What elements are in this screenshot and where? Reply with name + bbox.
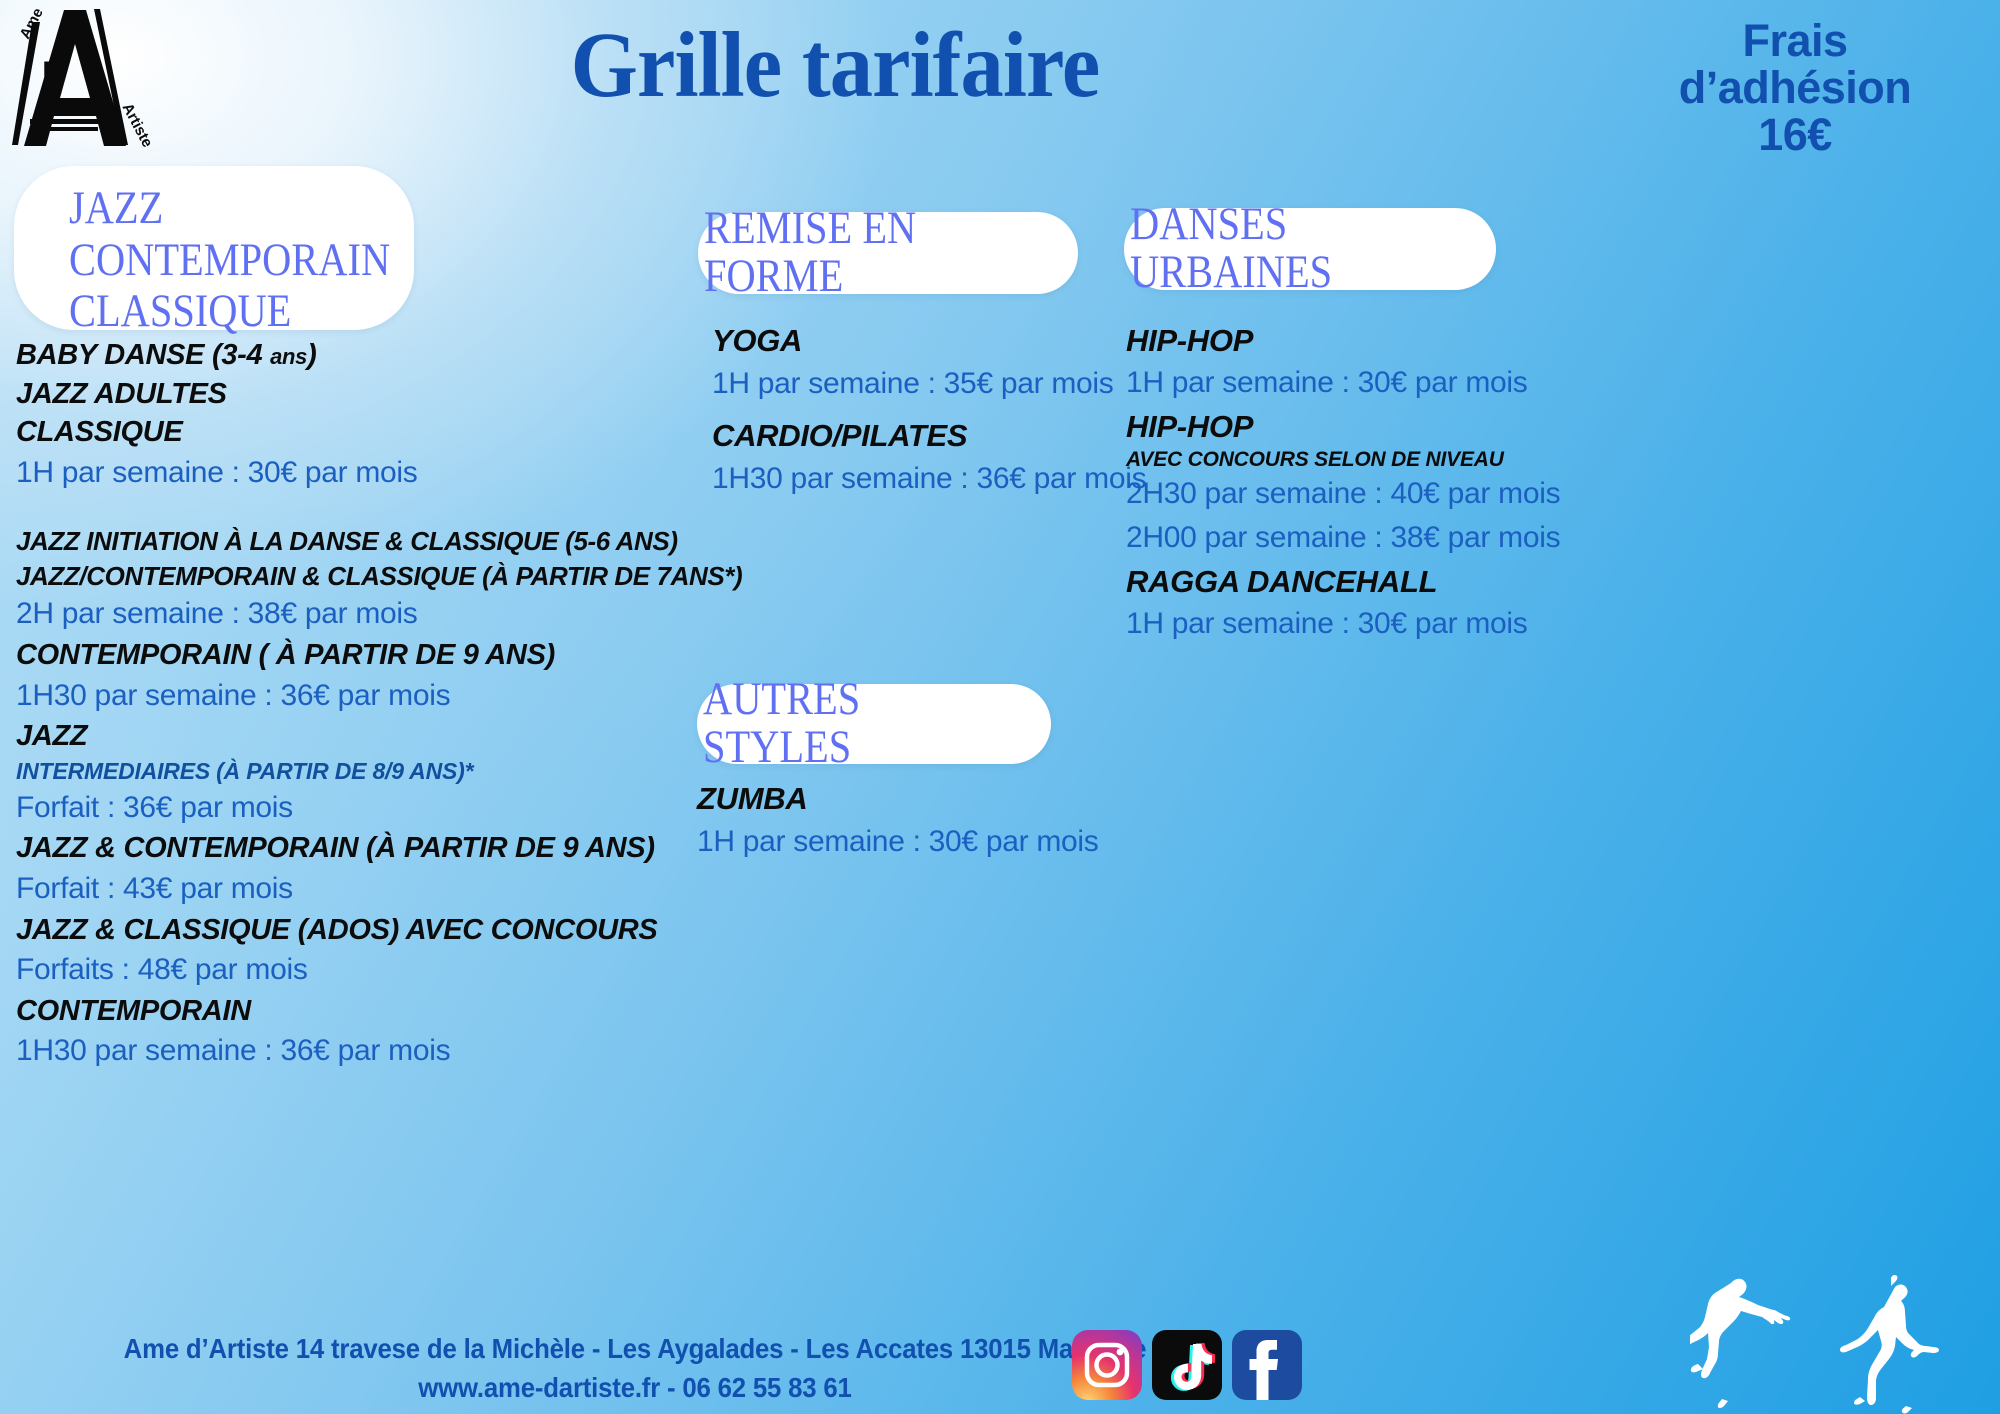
- jazz-price-list: BABY DANSE (3-4 ans) JAZZ ADULTES CLASSI…: [16, 336, 716, 1073]
- course-name: HIP-HOP: [1126, 406, 1566, 447]
- course-name: CARDIO/PILATES: [712, 415, 1132, 456]
- ame-dartiste-logo: D Ame Artiste: [8, 6, 208, 151]
- instagram-icon[interactable]: [1072, 1330, 1142, 1400]
- fee-line-1: Frais: [1600, 18, 1990, 65]
- pricing-poster: D Ame Artiste Grille tarifaire Frais d’a…: [0, 0, 2000, 1414]
- footer-contact: Ame d’Artiste 14 travese de la Michèle -…: [51, 1330, 1219, 1407]
- course-name: CONTEMPORAIN ( À PARTIR DE 9 ANS): [16, 636, 716, 675]
- course-name: HIP-HOP: [1126, 320, 1566, 361]
- course-price: 1H30 par semaine : 36€ par mois: [16, 675, 716, 718]
- course-name: BABY DANSE (3-4 ans): [16, 336, 716, 375]
- course-note: INTERMEDIAIRES (À PARTIR DE 8/9 ANS)*: [16, 756, 716, 787]
- svg-text:D: D: [42, 55, 67, 93]
- course-price: 2H par semaine : 38€ par mois: [16, 593, 716, 636]
- course-name: JAZZ & CLASSIQUE (ADOS) AVEC CONCOURS: [16, 911, 716, 950]
- membership-fee: Frais d’adhésion 16€: [1600, 18, 1990, 158]
- category-pill-remise-label: REMISE EN FORME: [704, 205, 1026, 301]
- facebook-icon[interactable]: [1232, 1330, 1302, 1400]
- category-pill-jazz: JAZZ CONTEMPORAIN CLASSIQUE: [14, 166, 414, 330]
- course-name: RAGGA DANCEHALL: [1126, 561, 1566, 602]
- course-price: 1H30 par semaine : 36€ par mois: [712, 456, 1132, 501]
- category-pill-remise-en-forme: REMISE EN FORME: [698, 212, 1078, 294]
- footer-address: Ame d’Artiste 14 travese de la Michèle -…: [51, 1330, 1219, 1369]
- course-price: Forfaits : 48€ par mois: [16, 949, 716, 992]
- course-price: Forfait : 36€ par mois: [16, 787, 716, 830]
- course-price: Forfait : 43€ par mois: [16, 868, 716, 911]
- course-name: JAZZ ADULTES: [16, 375, 716, 414]
- spacer: [712, 406, 1132, 415]
- course-name: JAZZ & CONTEMPORAIN (À PARTIR DE 9 ANS): [16, 829, 716, 868]
- course-price: 1H par semaine : 30€ par mois: [697, 819, 1117, 864]
- course-price: 2H00 par semaine : 38€ par mois: [1126, 516, 1566, 560]
- category-pill-autres-label: AUTRES STYLES: [703, 676, 1002, 772]
- social-links: [1072, 1330, 1302, 1400]
- danses-urbaines-price-list: HIP-HOP 1H par semaine : 30€ par mois HI…: [1126, 320, 1566, 646]
- course-price: 1H par semaine : 30€ par mois: [1126, 361, 1566, 405]
- category-pill-jazz-label: JAZZ CONTEMPORAIN CLASSIQUE: [69, 178, 390, 338]
- course-name: JAZZ: [16, 717, 716, 756]
- course-name: JAZZ INITIATION À LA DANSE & CLASSIQUE (…: [16, 524, 716, 559]
- course-name: YOGA: [712, 320, 1132, 361]
- course-price: 2H30 par semaine : 40€ par mois: [1126, 472, 1566, 516]
- course-note: AVEC CONCOURS SELON DE NIVEAU: [1126, 447, 1566, 472]
- course-price: 1H par semaine : 35€ par mois: [712, 361, 1132, 406]
- autres-styles-price-list: ZUMBA 1H par semaine : 30€ par mois: [697, 778, 1117, 864]
- course-name: JAZZ/CONTEMPORAIN & CLASSIQUE (À PARTIR …: [16, 559, 716, 594]
- course-name: CLASSIQUE: [16, 413, 716, 452]
- tiktok-icon[interactable]: [1152, 1330, 1222, 1400]
- dancer-silhouettes: [1690, 1275, 2000, 1414]
- course-name: CONTEMPORAIN: [16, 992, 716, 1031]
- page-title: Grille tarifaire: [496, 12, 1175, 119]
- category-pill-autres-styles: AUTRES STYLES: [697, 684, 1051, 764]
- course-price: 1H par semaine : 30€ par mois: [1126, 602, 1566, 646]
- footer-website-phone: www.ame-dartiste.fr - 06 62 55 83 61: [51, 1369, 1219, 1408]
- remise-en-forme-price-list: YOGA 1H par semaine : 35€ par mois CARDI…: [712, 320, 1132, 501]
- svg-text:Ame: Ame: [17, 6, 47, 42]
- fee-amount: 16€: [1600, 112, 1990, 159]
- course-price: 1H par semaine : 30€ par mois: [16, 452, 716, 495]
- category-pill-danses-urbaines: DANSES URBAINES: [1124, 208, 1496, 290]
- category-pill-urbaines-label: DANSES URBAINES: [1130, 201, 1445, 297]
- spacer: [16, 494, 716, 524]
- course-price: 1H30 par semaine : 36€ par mois: [16, 1030, 716, 1073]
- course-name: ZUMBA: [697, 778, 1117, 819]
- fee-line-2: d’adhésion: [1600, 65, 1990, 112]
